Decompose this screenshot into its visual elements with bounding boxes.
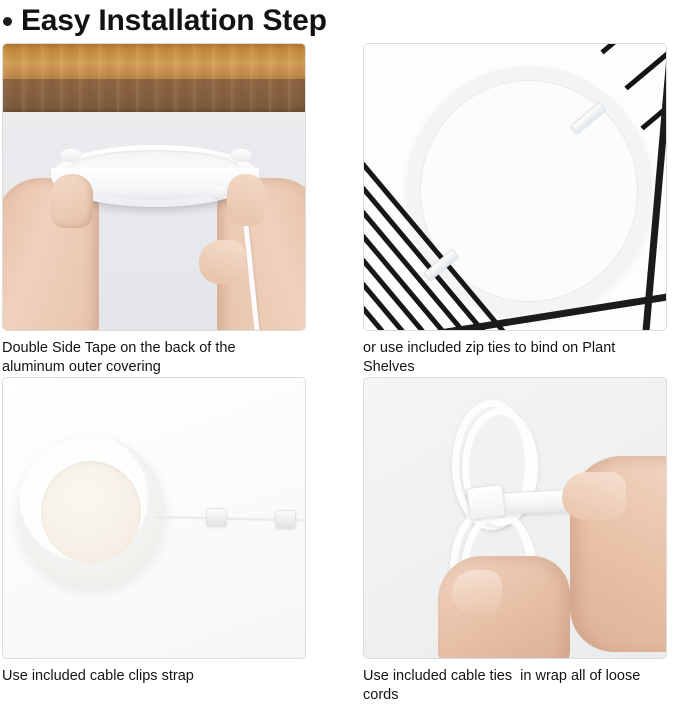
step-1-caption: Double Side Tape on the back of the alum… xyxy=(2,339,302,376)
step-2: or use included zip ties to bind on Plan… xyxy=(363,43,669,376)
step-2-image xyxy=(363,43,667,331)
mesh-wire xyxy=(364,44,596,330)
led-light-face xyxy=(41,461,141,563)
step-1-image xyxy=(2,43,306,331)
page-title: Easy Installation Step xyxy=(0,0,679,42)
step-3-caption: Use included cable clips strap xyxy=(2,667,302,686)
cable-clip-first xyxy=(206,508,227,527)
installation-steps-grid: Double Side Tape on the back of the alum… xyxy=(0,43,679,705)
led-light-ring xyxy=(17,436,165,588)
right-thumb xyxy=(562,472,626,520)
page-title-text: Easy Installation Step xyxy=(21,4,327,38)
right-thumb xyxy=(199,240,245,284)
wire-mesh-shelf xyxy=(364,44,666,330)
wooden-shelf xyxy=(3,44,305,112)
mounting-knob-right xyxy=(230,149,252,162)
step-4-caption: Use included cable ties in wrap all of l… xyxy=(363,667,663,704)
mesh-wire xyxy=(364,105,596,330)
shelf-frame-right xyxy=(642,44,666,330)
step-4: Use included cable ties in wrap all of l… xyxy=(363,377,669,704)
cable-clip-second xyxy=(275,510,296,529)
right-index-finger xyxy=(227,174,265,226)
mounting-knob-left xyxy=(60,149,82,162)
step-2-caption: or use included zip ties to bind on Plan… xyxy=(363,339,663,376)
step-4-image xyxy=(363,377,667,659)
left-thumb xyxy=(452,570,502,614)
mesh-wire xyxy=(364,57,596,330)
bullet-icon xyxy=(3,17,12,26)
mesh-wire xyxy=(364,249,596,330)
left-index-finger xyxy=(51,174,93,228)
wood-grain-texture xyxy=(3,44,305,112)
cable-tie-buckle xyxy=(466,484,506,520)
mesh-cross-wire xyxy=(600,44,666,54)
mesh-wire xyxy=(364,44,596,330)
step-3-image xyxy=(2,377,306,659)
mesh-cross-wire xyxy=(624,44,666,90)
step-1: Double Side Tape on the back of the alum… xyxy=(2,43,308,376)
step-3: Use included cable clips strap xyxy=(2,377,308,686)
